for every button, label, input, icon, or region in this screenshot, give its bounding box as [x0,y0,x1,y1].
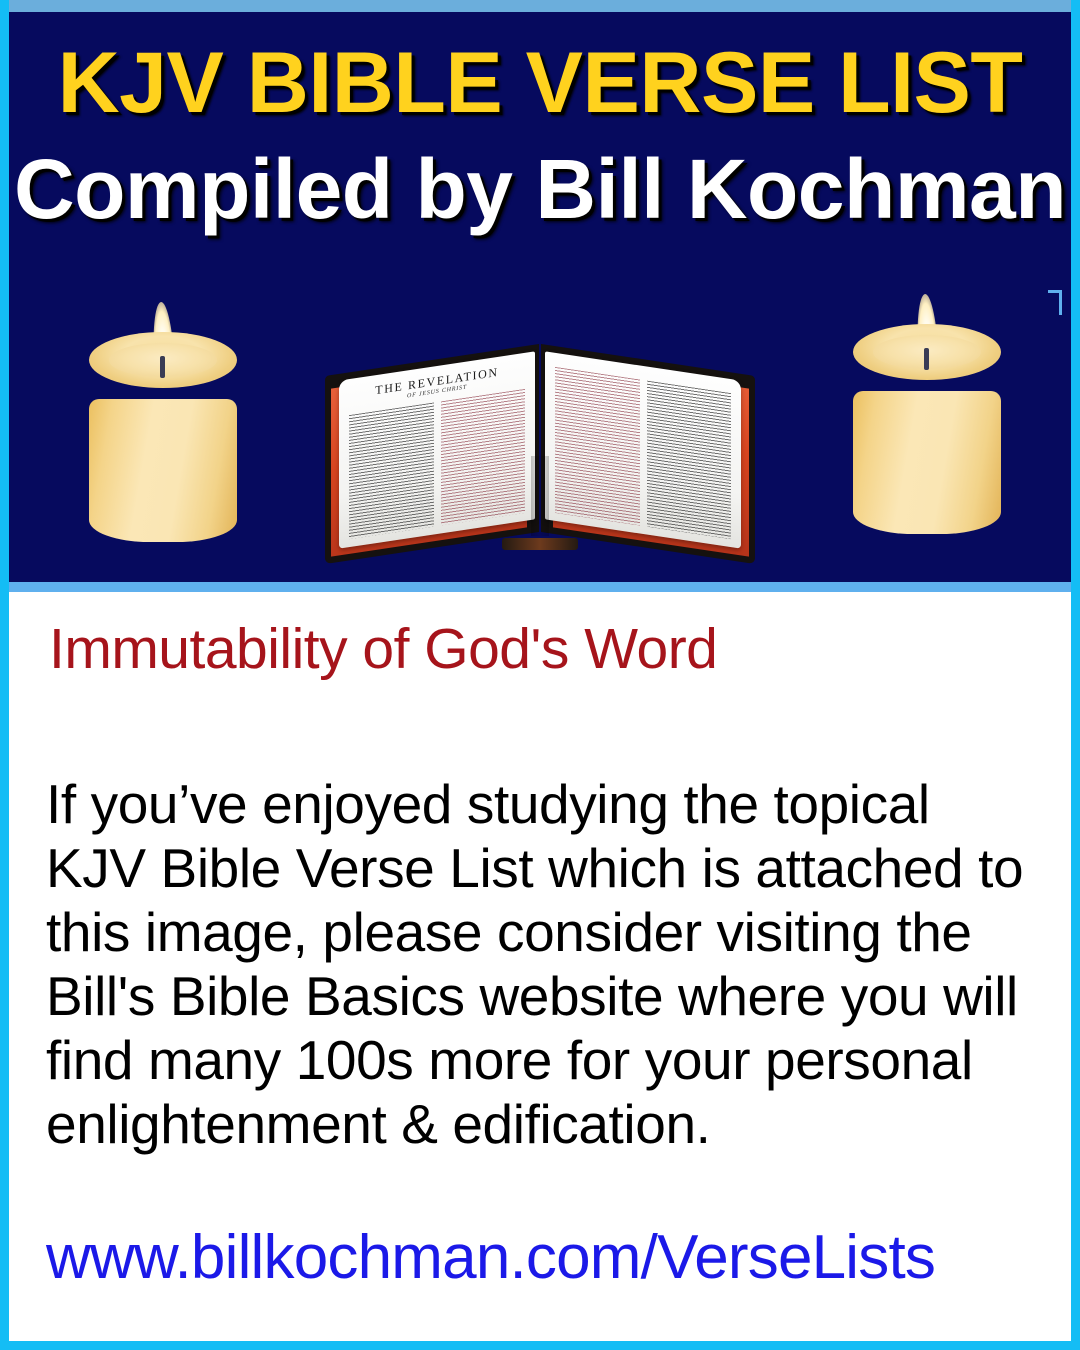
bible-spine-gutter [531,456,549,536]
page-subtitle-author: Compiled by Bill Kochman [9,147,1071,233]
candle-wick-icon [924,348,929,370]
bible-text-column [647,381,732,540]
website-url-link[interactable]: www.billkochman.com/VerseLists [46,1222,1051,1293]
candle-left-icon [89,332,237,542]
header-panel: KJV BIBLE VERSE LIST Compiled by Bill Ko… [0,0,1080,592]
topic-title: Immutability of God's Word [49,616,717,682]
bible-text-column [349,403,434,540]
candle-body [853,391,1001,534]
description-paragraph: If you’ve enjoyed studying the topical K… [46,772,1037,1156]
bible-text-columns-right [555,367,731,539]
candle-wick-icon [160,356,165,378]
bible-text-columns-left [349,389,525,539]
open-bible-image: THE REVELATION OF JESUS CHRIST [325,286,755,548]
bible-text-column [441,389,526,526]
bible-text-column [555,367,640,526]
bible-page-left: THE REVELATION OF JESUS CHRIST [339,351,535,548]
hero-imagery: THE REVELATION OF JESUS CHRIST [9,274,1071,586]
body-panel: Immutability of God's Word If you’ve enj… [9,592,1071,1341]
bible-page-right [545,351,741,548]
candle-body [89,399,237,542]
page-title: KJV BIBLE VERSE LIST [9,40,1071,128]
candle-right-icon [853,324,1001,534]
bible-verse-list-card: KJV BIBLE VERSE LIST Compiled by Bill Ko… [0,0,1080,1350]
bible-spine-base [502,538,578,550]
